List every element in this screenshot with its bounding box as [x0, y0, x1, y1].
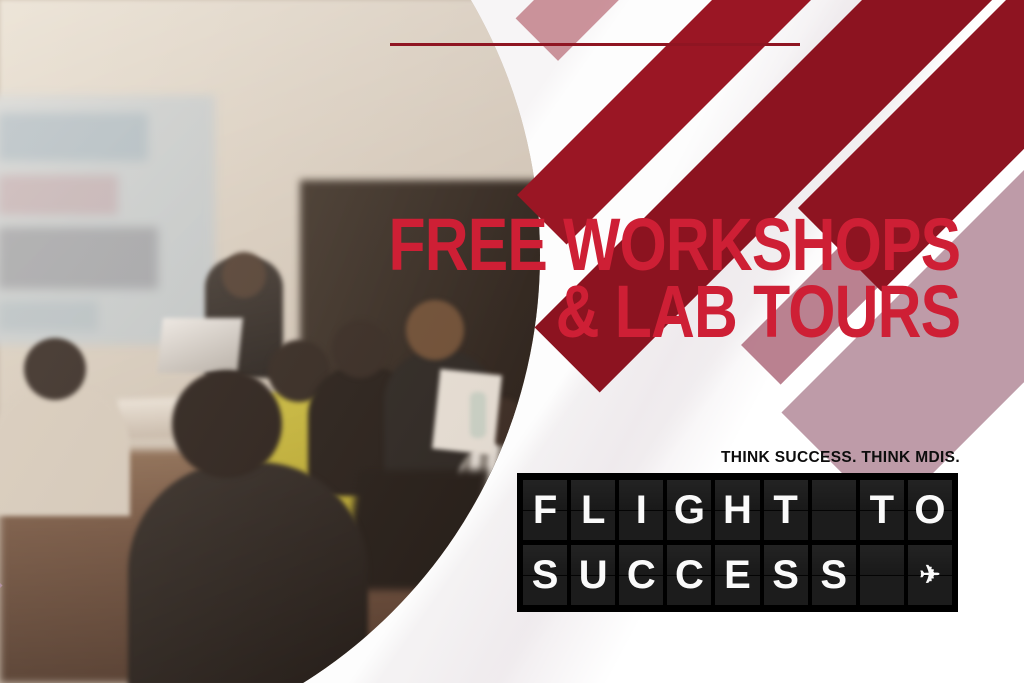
- flap-char: O: [914, 490, 945, 530]
- flap-char: G: [674, 490, 705, 530]
- flap-char: S: [772, 555, 799, 595]
- flap-tile: C: [667, 545, 711, 605]
- flap-tile: T: [764, 480, 808, 540]
- promo-banner: FREE WORKSHOPS & LAB TOURS THINK SUCCESS…: [0, 0, 1024, 683]
- flap-char: F: [533, 490, 557, 530]
- flap-tile: S: [523, 545, 567, 605]
- flap-tile: G: [667, 480, 711, 540]
- flap-char: S: [532, 555, 559, 595]
- flap-char: H: [723, 490, 752, 530]
- airplane-icon: ✈: [908, 545, 952, 605]
- page-title: FREE WORKSHOPS & LAB TOURS: [388, 212, 960, 345]
- flap-tile-blank: [812, 480, 856, 540]
- flap-tile: L: [571, 480, 615, 540]
- flap-char: S: [820, 555, 847, 595]
- flight-board-row-1: F L I G H T T O: [523, 480, 952, 540]
- flap-char: C: [675, 555, 704, 595]
- flap-char: L: [581, 490, 605, 530]
- flight-board-row-2: S U C C E S S ✈: [523, 545, 952, 605]
- flap-char: I: [636, 490, 647, 530]
- flap-tile: U: [571, 545, 615, 605]
- flight-board-logo: F L I G H T T O S U C C E S S ✈: [517, 473, 958, 612]
- flap-tile: F: [523, 480, 567, 540]
- flap-char: T: [870, 490, 894, 530]
- flap-tile: T: [860, 480, 904, 540]
- flap-tile: S: [764, 545, 808, 605]
- headline-line-2: & LAB TOURS: [388, 279, 960, 346]
- flap-tile: I: [619, 480, 663, 540]
- flap-char: ✈: [919, 563, 940, 588]
- flap-tile: E: [715, 545, 759, 605]
- flap-tile-blank: [860, 545, 904, 605]
- flap-char: C: [627, 555, 656, 595]
- flap-char: T: [773, 490, 797, 530]
- flap-tile: O: [908, 480, 952, 540]
- flap-tile: C: [619, 545, 663, 605]
- flap-char: E: [724, 555, 751, 595]
- tagline: THINK SUCCESS. THINK MDIS.: [721, 449, 960, 467]
- header-rule: [390, 43, 800, 46]
- flap-char: U: [579, 555, 608, 595]
- flap-tile: S: [812, 545, 856, 605]
- flap-tile: H: [715, 480, 759, 540]
- headline-line-1: FREE WORKSHOPS: [388, 212, 960, 279]
